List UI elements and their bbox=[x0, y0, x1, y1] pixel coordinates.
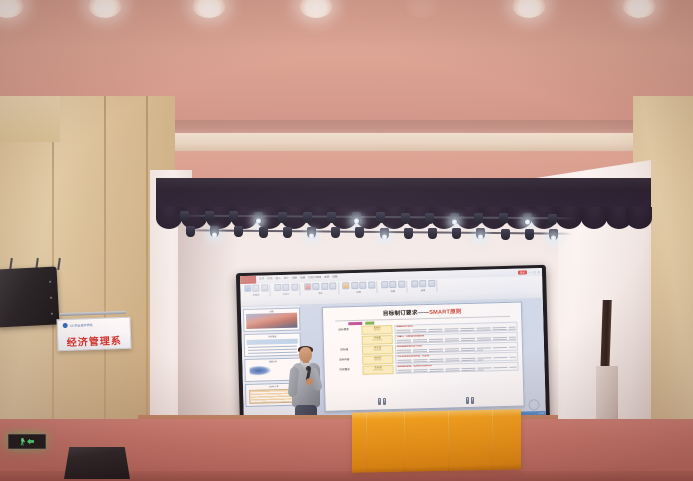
ribbon-group-4[interactable]: 绘图 bbox=[379, 281, 407, 294]
current-slide[interactable]: 目标制订要求——SMART原则 目标要素具体的Specific明确具体的目标，可… bbox=[322, 301, 525, 411]
principle-name-en: Relevant bbox=[374, 360, 382, 362]
ceiling-downlight bbox=[192, 0, 226, 18]
copy-icon[interactable] bbox=[261, 284, 268, 291]
tab-transition[interactable]: 切换 bbox=[292, 275, 297, 283]
ribbon-group-3[interactable]: 段落 bbox=[341, 281, 378, 294]
select-icon[interactable] bbox=[428, 280, 435, 287]
stage-lamp bbox=[254, 212, 263, 223]
ribbon-group-label: 编辑 bbox=[421, 288, 425, 292]
running-person-icon bbox=[20, 438, 25, 446]
stage-lamp bbox=[205, 211, 214, 222]
row-category-label: 目标值 bbox=[328, 345, 361, 355]
slide-editing-pane[interactable]: 目标制订要求——SMART原则 目标要素具体的Specific明确具体的目标，可… bbox=[301, 299, 546, 425]
stage-lamp bbox=[376, 212, 385, 223]
row-principle-cell: 可衡量Measurable bbox=[362, 335, 393, 345]
shapes-icon[interactable] bbox=[381, 281, 388, 288]
stage-lamp bbox=[548, 214, 557, 225]
principle-name-en: Attainable bbox=[373, 350, 381, 352]
stage-lamp bbox=[259, 227, 268, 238]
stage-lamp bbox=[327, 212, 336, 223]
stage-lamp bbox=[549, 229, 558, 240]
stage-lamp bbox=[425, 213, 434, 224]
stage-lamp bbox=[229, 211, 238, 222]
row-category-label bbox=[328, 335, 361, 345]
tab-file[interactable]: 文件 bbox=[259, 275, 264, 283]
thumbnail-image bbox=[246, 313, 298, 329]
maximize-button[interactable]: ▢ bbox=[533, 271, 536, 274]
row-description-cell: 有明确的期限，有具体的完成时间 bbox=[395, 361, 519, 373]
ceiling-downlight bbox=[88, 0, 122, 18]
stage-lamp bbox=[210, 226, 219, 237]
legend-chip-standard bbox=[348, 322, 362, 325]
ceiling-downlight bbox=[512, 0, 546, 18]
cut-icon[interactable] bbox=[252, 285, 259, 292]
institution-logo: XX 职业技术学院 bbox=[63, 322, 93, 328]
stage-lamp bbox=[523, 213, 532, 224]
ceiling-downlight bbox=[299, 0, 333, 18]
principle-name-en: Specific bbox=[374, 330, 381, 332]
row-category-label: 目标内容 bbox=[328, 355, 361, 365]
stage-lamp bbox=[525, 229, 534, 240]
stage-lamp bbox=[283, 227, 292, 238]
presenter-hand bbox=[306, 378, 313, 385]
stage-lamp bbox=[278, 212, 287, 223]
tab-view[interactable]: 视图 bbox=[332, 273, 337, 281]
emergency-exit-sign bbox=[8, 434, 46, 449]
left-wall-upper-block bbox=[0, 96, 60, 142]
principle-name-en: Measurable bbox=[372, 340, 382, 342]
legend-chip-example bbox=[365, 322, 374, 325]
stage-lamp bbox=[501, 229, 510, 240]
slide-title-main: 目标制订要求—— bbox=[383, 310, 430, 317]
stage-lamp bbox=[186, 226, 195, 237]
bullets-icon[interactable] bbox=[342, 282, 349, 289]
ribbon-group-icons[interactable] bbox=[411, 280, 435, 288]
slide-thumbnail[interactable]: 封面 bbox=[243, 307, 301, 332]
arrow-left-icon bbox=[27, 439, 34, 445]
ribbon-group-icons[interactable] bbox=[274, 284, 298, 292]
stage-lamp bbox=[331, 227, 340, 238]
row-principle-cell: 具体的Specific bbox=[362, 325, 393, 335]
paste-icon[interactable] bbox=[244, 285, 251, 292]
reset-icon[interactable] bbox=[291, 284, 298, 291]
stage-lamp bbox=[401, 213, 410, 224]
arrange-icon[interactable] bbox=[389, 281, 396, 288]
ceiling-downlight-off bbox=[405, 0, 439, 18]
italic-icon[interactable] bbox=[312, 283, 319, 290]
ribbon-group-icons[interactable] bbox=[304, 283, 337, 291]
titlebar-right[interactable]: 登录 — ▢ ✕ bbox=[518, 270, 542, 275]
ribbon-group-0[interactable]: 剪贴板 bbox=[242, 284, 270, 297]
row-category-label: 目标要素 bbox=[327, 325, 360, 335]
ribbon-group-icons[interactable] bbox=[342, 281, 375, 289]
stage-lamp bbox=[380, 228, 389, 239]
microphone-stand bbox=[378, 398, 387, 407]
slide-title-accent: SMART原则 bbox=[429, 309, 462, 316]
stage-lamp bbox=[404, 228, 413, 239]
smart-principles-table: 目标要素具体的Specific明确具体的目标，可衡量Measurable可量化、… bbox=[327, 321, 519, 375]
ribbon-group-label: 字体 bbox=[318, 291, 322, 295]
stage-lamp bbox=[307, 227, 316, 238]
floor-monitor-speaker bbox=[64, 447, 130, 479]
principle-name-en: Time-bound bbox=[373, 370, 383, 372]
logo-mark-icon bbox=[63, 323, 68, 328]
ribbon-group-5[interactable]: 编辑 bbox=[409, 280, 437, 293]
tab-home[interactable]: 开始 bbox=[267, 275, 272, 283]
layout-icon[interactable] bbox=[282, 284, 289, 291]
wall-loudspeaker bbox=[0, 266, 59, 327]
new-slide-icon[interactable] bbox=[274, 284, 281, 291]
underline-icon[interactable] bbox=[321, 283, 328, 290]
stage-lamp bbox=[499, 213, 508, 224]
ribbon-group-1[interactable]: 幻灯片 bbox=[272, 283, 300, 296]
ribbon-group-2[interactable]: 字体 bbox=[302, 282, 339, 295]
ribbon-group-icons[interactable] bbox=[244, 284, 268, 292]
stage-lamp bbox=[352, 212, 361, 223]
tab-design[interactable]: 设计 bbox=[284, 275, 289, 283]
department-name: 经济管理系 bbox=[58, 332, 130, 350]
ceiling-downlight bbox=[622, 0, 656, 18]
sign-in-badge[interactable]: 登录 bbox=[518, 270, 527, 274]
ribbon-group-label: 剪贴板 bbox=[253, 293, 260, 297]
ceiling-downlight bbox=[0, 0, 24, 18]
department-sign: XX 职业技术学院 经济管理系 bbox=[56, 317, 131, 352]
quick-styles-icon[interactable] bbox=[398, 281, 405, 288]
head-table bbox=[352, 409, 521, 473]
thumbnail-map bbox=[249, 365, 271, 376]
presentation-display[interactable]: 文件 开始 插入 设计 切换 动画 幻灯片放映 审阅 视图 登录 — ▢ ✕ bbox=[236, 265, 550, 431]
row-principle-cell: 有时限Time-bound bbox=[363, 365, 394, 375]
display-brand-logo bbox=[528, 399, 539, 410]
institution-name: XX 职业技术学院 bbox=[70, 323, 93, 328]
microphone-capsule bbox=[306, 366, 311, 371]
minimize-button[interactable]: — bbox=[529, 271, 532, 274]
microphone-stand bbox=[466, 397, 475, 406]
bold-icon[interactable] bbox=[304, 283, 311, 290]
ribbon-group-label: 幻灯片 bbox=[283, 292, 290, 296]
stage-lamp bbox=[180, 211, 189, 222]
find-icon[interactable] bbox=[411, 280, 418, 287]
font-color-icon[interactable] bbox=[329, 283, 336, 290]
thumbnail-banner bbox=[247, 339, 299, 345]
align-center-icon[interactable] bbox=[368, 281, 375, 288]
stage-lamp bbox=[474, 213, 483, 224]
row-category-label: 时间要求 bbox=[328, 365, 361, 375]
valance-highlight bbox=[156, 178, 651, 190]
tab-insert[interactable]: 插入 bbox=[275, 275, 280, 283]
stage-lamp bbox=[303, 212, 312, 223]
stage-lamp bbox=[428, 228, 437, 239]
auditorium-stage-photo: 文件 开始 插入 设计 切换 动画 幻灯片放映 审阅 视图 登录 — ▢ ✕ bbox=[0, 0, 693, 481]
stage-lamp bbox=[452, 228, 461, 239]
align-left-icon[interactable] bbox=[359, 282, 366, 289]
tab-animation[interactable]: 动画 bbox=[300, 274, 305, 282]
replace-icon[interactable] bbox=[419, 280, 426, 287]
ribbon-group-icons[interactable] bbox=[381, 281, 405, 289]
ribbon-group-label: 绘图 bbox=[391, 289, 395, 293]
row-principle-cell: 相关的Relevant bbox=[362, 355, 393, 365]
tab-review[interactable]: 审阅 bbox=[324, 274, 329, 282]
stage-lamp bbox=[450, 213, 459, 224]
numbering-icon[interactable] bbox=[351, 282, 358, 289]
ribbon-group-label: 段落 bbox=[356, 290, 360, 294]
row-principle-cell: 可实现Attainable bbox=[362, 345, 393, 355]
close-button[interactable]: ✕ bbox=[538, 270, 540, 273]
